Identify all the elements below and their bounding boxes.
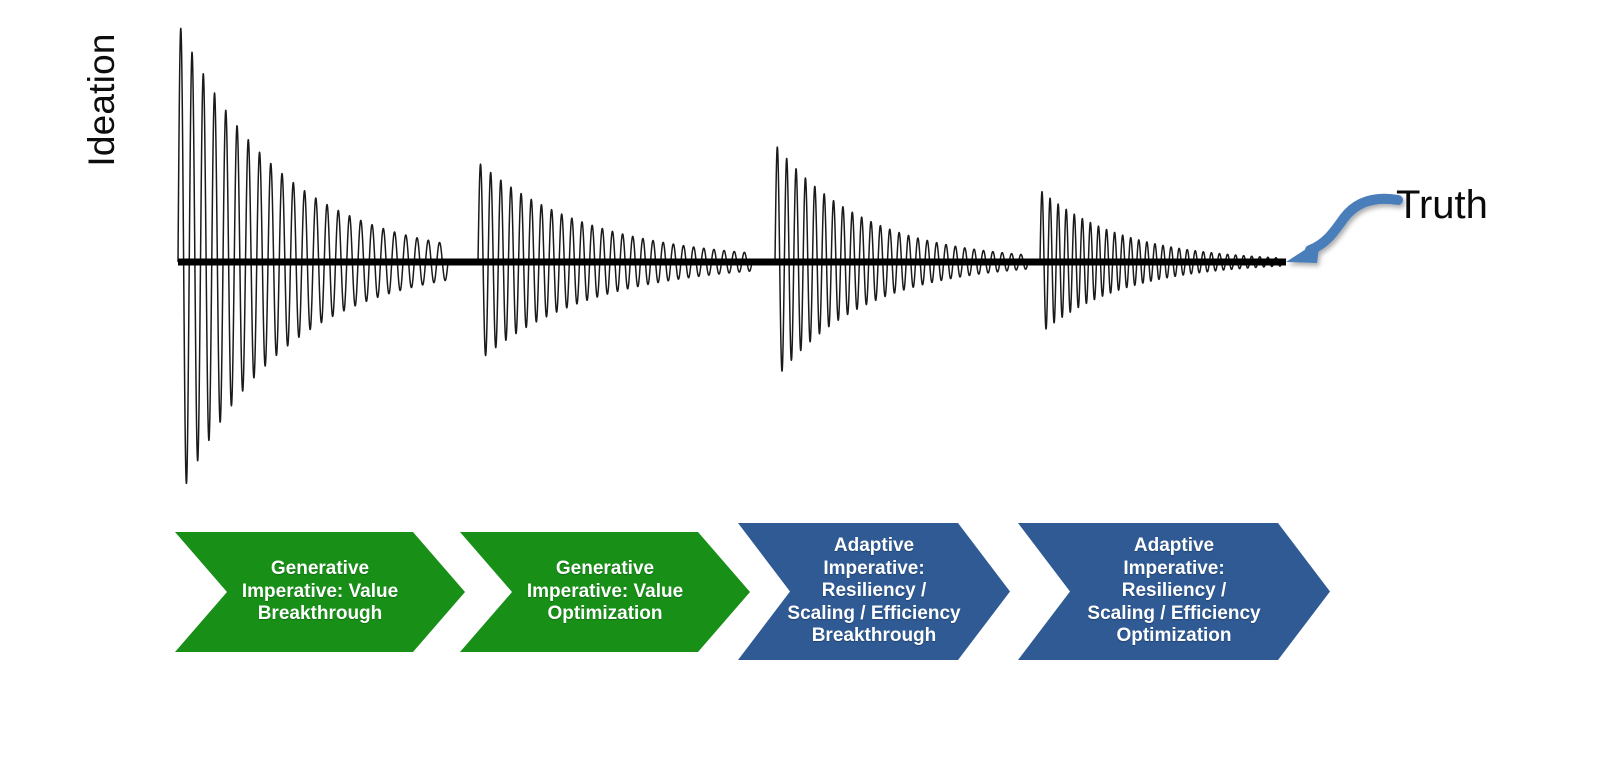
- stage-chevron-3-label: Adaptive Imperative: Resiliency / Scalin…: [738, 535, 1010, 647]
- stage-chevron-3[interactable]: Adaptive Imperative: Resiliency / Scalin…: [738, 523, 1010, 660]
- slide-canvas: Ideation Truth Generative Imperative: Va…: [0, 0, 1600, 776]
- stage-chevron-2[interactable]: Generative Imperative: Value Optimizatio…: [460, 532, 750, 652]
- stage-chevron-4[interactable]: Adaptive Imperative: Resiliency / Scalin…: [1018, 523, 1330, 660]
- waveform-traces: [178, 28, 1282, 483]
- waveform-burst-1: [178, 28, 448, 483]
- arrow-shape: [1286, 199, 1398, 263]
- stage-chevron-2-label: Generative Imperative: Value Optimizatio…: [460, 558, 750, 625]
- stage-chevron-1-label: Generative Imperative: Value Breakthroug…: [175, 558, 465, 625]
- truth-label: Truth: [1396, 183, 1488, 228]
- stage-chevron-1[interactable]: Generative Imperative: Value Breakthroug…: [175, 532, 465, 652]
- stage-chevron-row: Generative Imperative: Value Breakthroug…: [0, 505, 1600, 680]
- stage-chevron-4-label: Adaptive Imperative: Resiliency / Scalin…: [1018, 535, 1330, 647]
